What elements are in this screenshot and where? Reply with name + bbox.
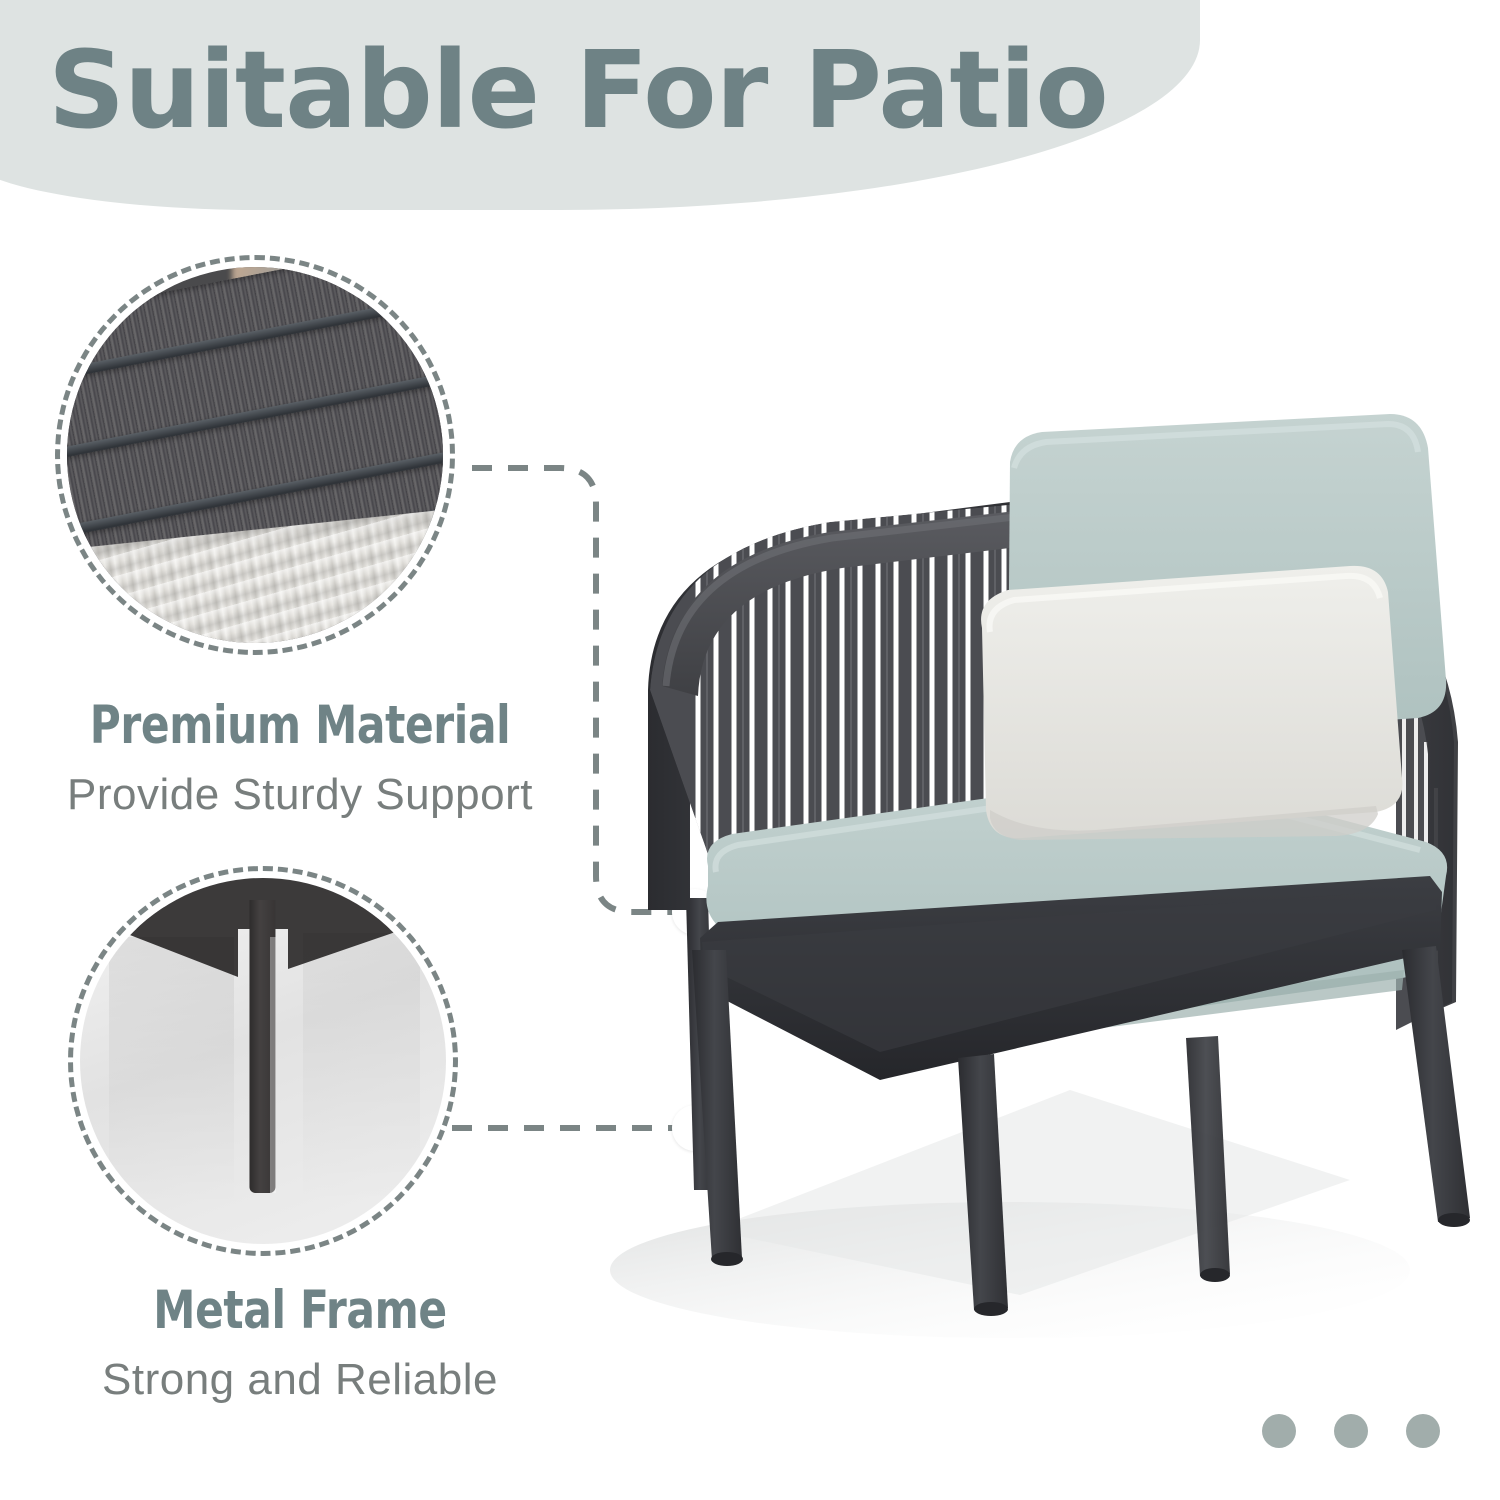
chair-leg-back-right (1402, 946, 1470, 1222)
pagination-dot-1[interactable] (1262, 1414, 1296, 1448)
leg-foot (974, 1302, 1008, 1316)
pagination-dot-2[interactable] (1334, 1414, 1368, 1448)
photo-metal-frame (80, 878, 446, 1244)
throw-pillow (981, 566, 1402, 838)
callout-photo-metal-frame (68, 866, 458, 1256)
metal-leg-photo (80, 878, 446, 1244)
leg-foot (711, 1252, 743, 1266)
infographic-canvas: Suitable For Patio Premium Materia (0, 0, 1500, 1500)
page-title: Suitable For Patio (48, 38, 1108, 145)
feature-subtitle-premium-material: Provide Sturdy Support (20, 770, 580, 820)
pagination-dots[interactable] (1262, 1414, 1440, 1448)
floor-shadow-left (109, 937, 233, 1208)
leg-foot (1200, 1268, 1230, 1282)
callout-photo-premium-material (55, 255, 455, 655)
leg-foot (1438, 1213, 1470, 1227)
feature-title-premium-material: Premium Material (76, 695, 524, 756)
rope-texture-photo (67, 267, 443, 643)
leg-highlight (270, 937, 276, 1193)
feature-title-metal-frame: Metal Frame (76, 1280, 524, 1341)
pagination-dot-3[interactable] (1406, 1414, 1440, 1448)
feature-subtitle-metal-frame: Strong and Reliable (20, 1355, 580, 1405)
floor-shadow-right (303, 933, 420, 1208)
product-image-patio-chair (590, 390, 1500, 1340)
photo-premium-material (67, 267, 443, 643)
chair-illustration (590, 390, 1500, 1340)
